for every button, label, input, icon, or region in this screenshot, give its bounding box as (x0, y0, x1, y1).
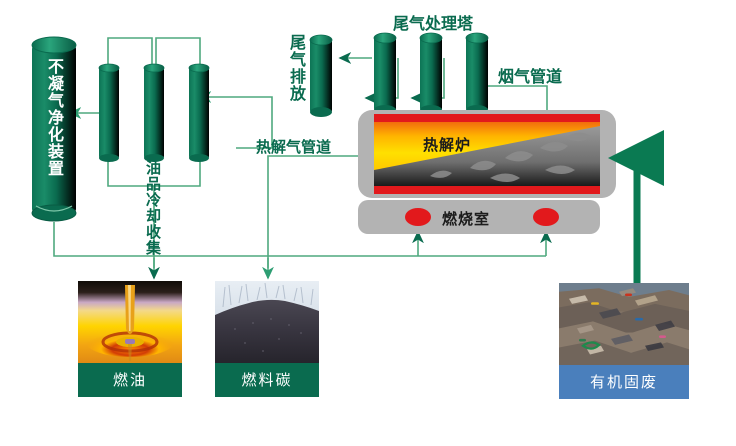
fuel-oil-photo (78, 281, 182, 363)
burner-right (533, 208, 559, 226)
label-pyrolysis-furnace: 热解炉 (423, 134, 471, 155)
fuel-carbon-caption: 燃料碳 (215, 363, 319, 397)
label-noncondensable-tower: 不凝气净化装置 (42, 58, 66, 177)
fuel-oil-caption: 燃油 (78, 363, 182, 397)
diagram-canvas: 不凝气净化装置 油品冷却收集 尾气排放 尾气处理塔 烟气管道 热解气管道 热解炉… (0, 0, 736, 446)
label-tail-gas-treatment-tower: 尾气处理塔 (393, 10, 473, 34)
burner-left (405, 208, 431, 226)
organic-solid-waste-card[interactable]: 有机固废 (559, 283, 689, 399)
exhaust-emission-stack (310, 35, 332, 117)
label-flue-gas-pipeline: 烟气管道 (498, 63, 562, 87)
organic-solid-waste-caption: 有机固废 (559, 365, 689, 399)
pyrolysis-furnace (358, 110, 616, 198)
tail-gas-treatment-towers (374, 33, 488, 115)
label-exhaust-emission: 尾气排放 (284, 34, 308, 102)
fuel-carbon-card[interactable]: 燃料碳 (215, 281, 319, 397)
fuel-oil-card[interactable]: 燃油 (78, 281, 182, 397)
oil-condenser-cylinders (99, 64, 209, 162)
label-oil-cooling-collection: 油品冷却收集 (143, 160, 164, 256)
organic-solid-waste-photo (559, 283, 689, 365)
label-pyrolysis-gas-pipeline: 热解气管道 (256, 136, 331, 157)
fuel-carbon-photo (215, 281, 319, 363)
label-combustion-chamber: 燃烧室 (442, 208, 490, 229)
